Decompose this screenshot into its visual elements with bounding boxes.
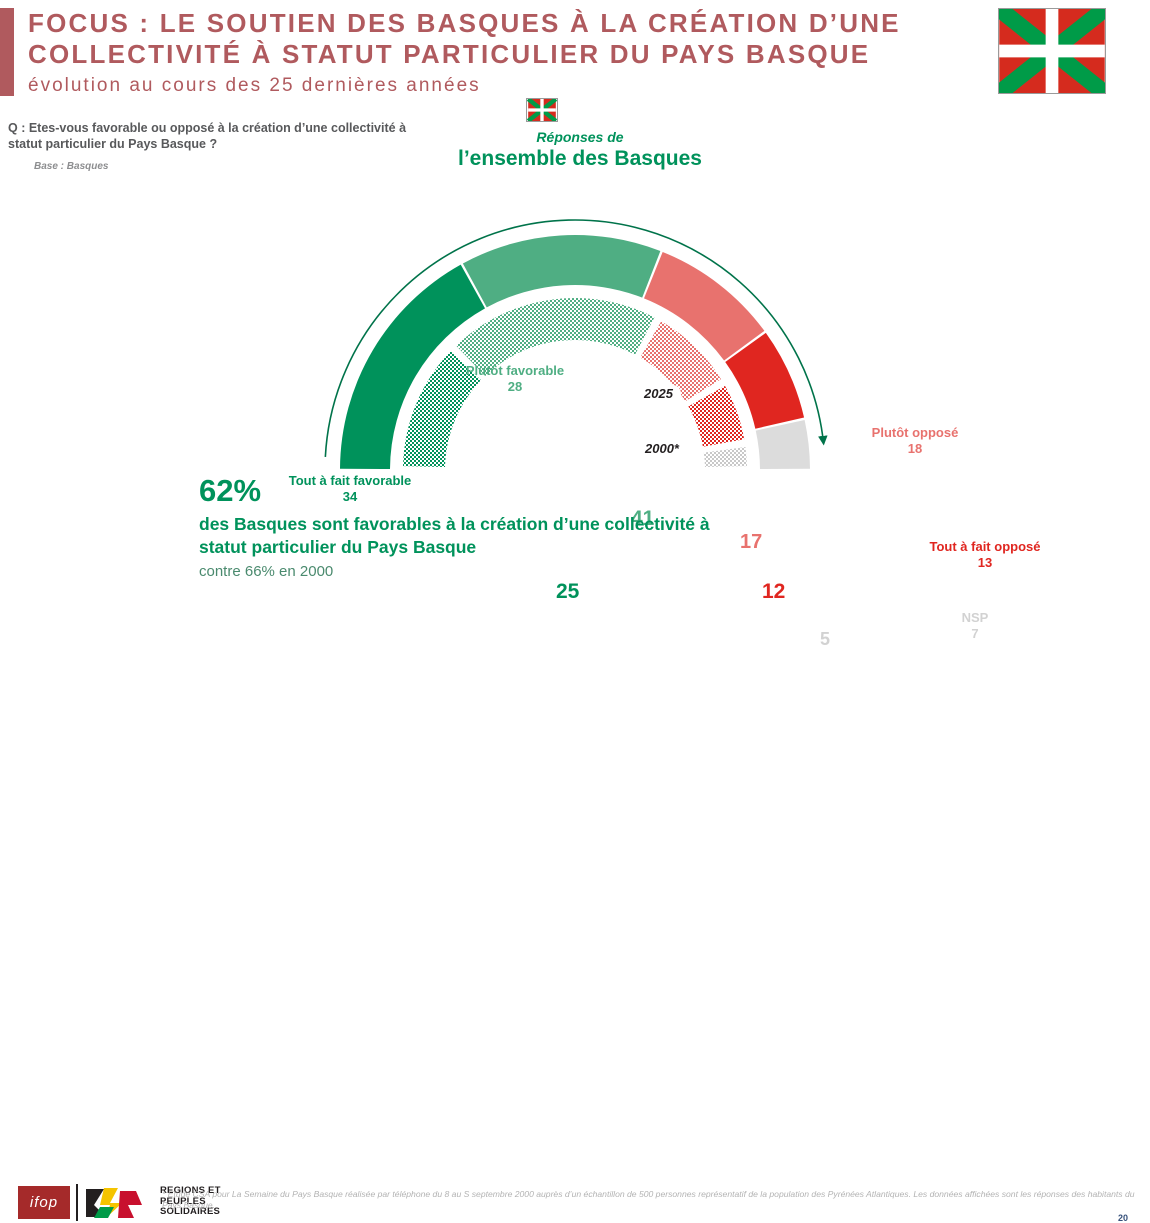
conclusion-line-2: statut particulier du Pays Basque	[199, 536, 899, 559]
header-accent-bar	[0, 8, 14, 96]
conclusion-main: des Basques sont favorables à la créatio…	[199, 513, 899, 559]
responses-caption: Réponses de l’ensemble des Basques	[400, 128, 760, 172]
label-plutot-favorable: Plutôt favorable 28	[435, 363, 595, 395]
question-block: Q : Etes-vous favorable ou opposé à la c…	[8, 120, 408, 172]
conclusion-block: 62% des Basques sont favorables à la cré…	[199, 473, 899, 582]
question-text: Q : Etes-vous favorable ou opposé à la c…	[8, 120, 408, 152]
footnote-text: * Etude CSA pour La Semaine du Pays Basq…	[162, 1189, 1137, 1211]
ifop-logo: ifop	[18, 1186, 70, 1219]
caption-big: l’ensemble des Basques	[400, 146, 760, 172]
conclusion-sub: contre 66% en 2000	[199, 562, 899, 582]
semi-donut-chart: Tout à fait favorable 34 Plutôt favorabl…	[120, 170, 1030, 500]
title-line-1: FOCUS : LE SOUTIEN DES BASQUES À LA CRÉA…	[28, 8, 988, 39]
basque-flag-icon-small	[526, 98, 558, 122]
page-subtitle: évolution au cours des 25 dernières anné…	[28, 73, 988, 99]
title-line-2: COLLECTIVITÉ À STATUT PARTICULIER DU PAY…	[28, 39, 988, 70]
arc-segment	[688, 386, 744, 447]
logo-divider	[76, 1184, 78, 1221]
conclusion-line-1: des Basques sont favorables à la créatio…	[199, 513, 899, 536]
basque-flag-icon	[998, 8, 1106, 94]
page-number: 20	[1118, 1213, 1128, 1223]
label-plutot-oppose: Plutôt opposé 18	[835, 425, 995, 457]
year-badge-2025: 2025	[636, 385, 681, 402]
arc-segment	[463, 235, 660, 307]
headline-percentage: 62%	[199, 473, 899, 509]
caption-small: Réponses de	[400, 128, 760, 146]
arc-segment	[704, 447, 747, 467]
slide-header: FOCUS : LE SOUTIEN DES BASQUES À LA CRÉA…	[0, 0, 1150, 104]
arc-segment	[756, 420, 810, 469]
page-title: FOCUS : LE SOUTIEN DES BASQUES À LA CRÉA…	[28, 8, 988, 99]
regions-peuples-solidaires-logo-icon	[84, 1185, 156, 1221]
label-tout-a-fait-oppose: Tout à fait opposé 13	[900, 539, 1070, 571]
slide-footer: ifop REGIONS ET PEUPLES SOLIDAIRES * Etu…	[0, 588, 1150, 647]
year-badge-2000: 2000*	[637, 440, 687, 457]
